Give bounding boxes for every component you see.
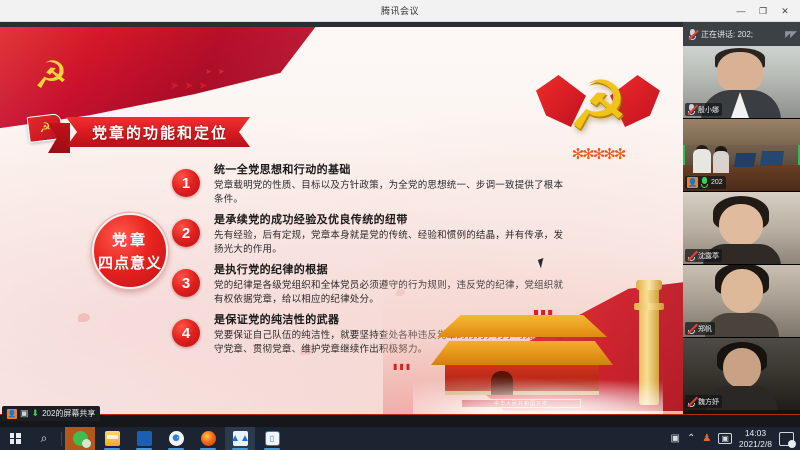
display-settings-icon[interactable]: ▣	[718, 433, 732, 444]
tencent-meeting-icon: ▲▲	[233, 431, 248, 446]
avatar: 👤	[7, 409, 17, 419]
taskbar-item-tencent-meeting[interactable]: ▲▲	[225, 427, 255, 450]
window-title: 腾讯会议	[381, 4, 419, 17]
taskbar-items: ⚈ ▲▲ ▯	[65, 427, 287, 450]
windows-taskbar: ⌕ ⚈ ▲▲	[0, 427, 800, 450]
notification-center-icon[interactable]	[779, 432, 794, 446]
participant-name: 202	[711, 179, 723, 186]
point-number: 2	[172, 219, 200, 247]
start-button[interactable]	[0, 427, 30, 450]
slide-title: 党章的功能和定位	[92, 122, 228, 143]
participant-tile-active[interactable]: 👤 202	[683, 119, 800, 191]
office-icon	[137, 431, 152, 446]
screen-share-indicator[interactable]: 👤 ▣ ⬇ 202的屏幕共享	[2, 406, 100, 421]
taskbar-item-phone-link[interactable]: ▯	[257, 427, 287, 450]
point-number: 1	[172, 169, 200, 197]
slide-title-banner: 党章的功能和定位	[66, 117, 250, 147]
hammer-sickle-icon: ☭	[30, 55, 72, 97]
speaking-label: 正在讲话: 202;	[701, 29, 753, 40]
point-body: 先有经验，后有定规，党章本身就是党的传统、经验和惯例的结晶，并有传承，发扬光大的…	[214, 229, 572, 256]
building-lower-roof	[431, 341, 613, 365]
phone-link-icon: ▯	[265, 431, 280, 446]
participant-tile[interactable]: 魏方妤	[683, 338, 800, 410]
screen-share-label: 202的屏幕共享	[42, 408, 95, 419]
taskbar-item-wechat[interactable]	[65, 427, 95, 450]
flowers-decoration-icon: ✻✻✻✻✻	[540, 145, 656, 163]
point-item: 2 是承续党的成功经验及优良传统的纽带 先有经验，后有定规，党章本身就是党的传统…	[172, 213, 572, 259]
screen-share-bar: 👤 ▣ ⬇ 202的屏幕共享	[0, 414, 800, 427]
firefox-icon	[201, 431, 216, 446]
point-title: 是承续党的成功经验及优良传统的纽带	[214, 213, 572, 228]
participant-name: 魏方妤	[698, 397, 719, 407]
petal-decoration-icon	[78, 313, 90, 322]
badge-line-2: 四点意义	[98, 252, 162, 273]
participant-label: 沈露葶	[685, 249, 722, 262]
participant-label: 郑帆	[685, 322, 715, 335]
window-controls: — ❐ ✕	[730, 0, 796, 22]
building-upper-roof	[437, 315, 607, 337]
flag-row-left-icon: ▮▮▮	[393, 362, 412, 371]
title-bar: 腾讯会议 — ❐ ✕	[0, 0, 800, 22]
tencent-meeting-window: 腾讯会议 — ❐ ✕ ☭ ☭ ➤➤➤ ➤➤ 党章的功能和定位	[0, 0, 800, 450]
screen-icon: ▣	[20, 408, 29, 419]
taskbar-item-firefox[interactable]	[193, 427, 223, 450]
participant-tile[interactable]: 沈露葶	[683, 192, 800, 264]
system-tray: ▣ ⌃ ♟ ▣ 14:03 2021/2/8	[671, 428, 800, 449]
fountain-spray	[413, 369, 663, 415]
key-point-badge: 党章 四点意义	[92, 213, 168, 289]
point-number: 3	[172, 269, 200, 297]
microphone-on-icon	[700, 177, 709, 188]
avatar: 👤	[687, 177, 698, 188]
maximize-button[interactable]: ❐	[752, 1, 774, 21]
collapse-rail-icon[interactable]: ◤◤	[785, 29, 795, 40]
participant-label: 魏方妤	[685, 395, 722, 408]
participant-label: 👤 202	[685, 176, 726, 189]
microphone-muted-icon	[687, 250, 696, 261]
speaking-indicator-bar: 正在讲话: 202; ◤◤	[683, 22, 800, 46]
badge-line-1: 党章	[112, 229, 148, 250]
participant-tile[interactable]: 郑帆	[683, 265, 800, 337]
participant-name: 殷小娜	[698, 105, 719, 115]
participant-rail: 正在讲话: 202; ◤◤ 殷小娜 👤	[683, 22, 800, 427]
microphone-muted-icon	[688, 29, 697, 40]
party-emblem-graphic: ☭ ✻✻✻✻✻	[534, 61, 662, 165]
point-title: 统一全党思想和行动的基础	[214, 163, 572, 178]
search-icon[interactable]: ⌕	[30, 427, 58, 450]
point-item: 1 统一全党思想和行动的基础 党章载明党的性质、目标以及方针政策，为全党的思想统…	[172, 163, 572, 209]
download-icon: ⬇	[32, 408, 40, 419]
taskbar-item-store[interactable]: ⚈	[161, 427, 191, 450]
file-explorer-icon	[105, 431, 120, 446]
close-button[interactable]: ✕	[774, 1, 796, 21]
microphone-muted-icon	[687, 396, 696, 407]
taskbar-item-explorer[interactable]	[97, 427, 127, 450]
store-icon: ⚈	[169, 431, 184, 446]
doves-decoration-small-icon: ➤➤	[205, 67, 230, 76]
clock-time: 14:03	[739, 428, 772, 439]
doves-decoration-icon: ➤➤➤	[170, 79, 213, 92]
participant-label: 殷小娜	[685, 103, 722, 116]
wechat-icon	[73, 431, 88, 446]
shared-screen-stage[interactable]: ☭ ☭ ➤➤➤ ➤➤ 党章的功能和定位 ☭ ✻✻✻✻✻ 党章	[0, 22, 683, 427]
participant-name: 沈露葶	[698, 251, 719, 261]
participant-tile[interactable]: 殷小娜	[683, 46, 800, 118]
ime-indicator-icon[interactable]: ▣	[671, 433, 680, 444]
security-shield-icon[interactable]: ♟	[702, 433, 711, 444]
hammer-sickle-large-icon: ☭	[534, 67, 662, 145]
taskbar-divider	[61, 432, 62, 446]
clock-date: 2021/2/8	[739, 439, 772, 450]
microphone-muted-icon	[687, 104, 696, 115]
point-number: 4	[172, 319, 200, 347]
participant-name: 郑帆	[698, 324, 712, 334]
participant-tiles: 殷小娜 👤 202	[683, 46, 800, 410]
presentation-slide: ☭ ☭ ➤➤➤ ➤➤ 党章的功能和定位 ☭ ✻✻✻✻✻ 党章	[0, 27, 683, 415]
point-body: 党章载明党的性质、目标以及方针政策，为全党的思想统一、步调一致提供了根本条件。	[214, 179, 572, 206]
taskbar-item-office[interactable]	[129, 427, 159, 450]
clock[interactable]: 14:03 2021/2/8	[739, 428, 772, 449]
show-hidden-icons-icon[interactable]: ⌃	[687, 433, 695, 444]
minimize-button[interactable]: —	[730, 1, 752, 21]
tiananmen-illustration: ▮▮▮ 中华人民共和国万岁 ▮▮▮	[383, 255, 683, 415]
microphone-muted-icon	[687, 323, 696, 334]
